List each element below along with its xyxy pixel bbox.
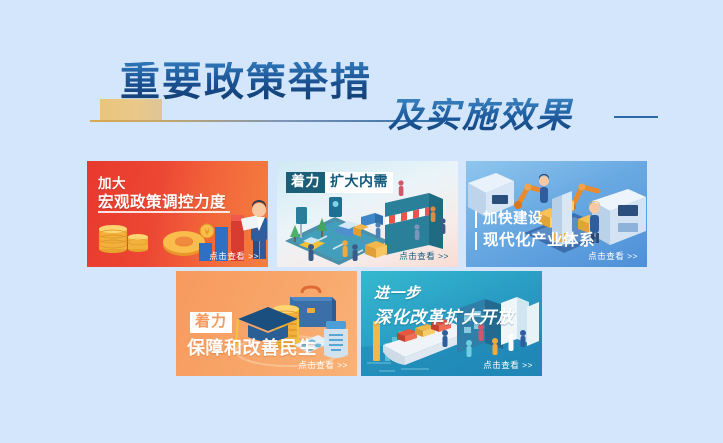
card1-line2: 宏观政策调控力度 xyxy=(98,190,226,212)
card2-line1: 着力 xyxy=(286,172,325,193)
card-deepen-reform[interactable]: 进一步 深化改革扩大开放 点击查看 >> xyxy=(361,271,542,376)
card5-cta-link[interactable]: 点击查看 >> xyxy=(483,359,533,371)
card-macro-policy[interactable]: ¥ 加大 宏观政策调控力度 点击查看 >> xyxy=(87,161,268,267)
card2-title-row: 着力 扩大内需 xyxy=(286,172,393,193)
card1-cta-link[interactable]: 点击查看 >> xyxy=(209,250,259,262)
page-header: 重要政策举措 及实施效果 xyxy=(0,0,723,155)
card2-cta-link[interactable]: 点击查看 >> xyxy=(399,250,449,262)
card3-line1: 加快建设 xyxy=(475,211,543,228)
card4-line2: 保障和改善民生 xyxy=(187,334,317,360)
card1-line1: 加大 xyxy=(98,172,126,192)
title-tail-rule xyxy=(614,116,658,118)
card-modern-industry[interactable]: 加快建设 现代化产业体系 点击查看 >> xyxy=(466,161,647,267)
page-title: 重要政策举措 xyxy=(120,62,372,102)
card3-cta-link[interactable]: 点击查看 >> xyxy=(588,250,638,262)
page-subtitle: 及实施效果 xyxy=(388,98,573,133)
card4-cta-link[interactable]: 点击查看 >> xyxy=(298,359,348,371)
card5-line2: 深化改革扩大开放 xyxy=(374,303,514,328)
card2-line2: 扩大内需 xyxy=(325,172,393,193)
card-peoples-livelihood[interactable]: 着力 保障和改善民生 点击查看 >> xyxy=(176,271,357,376)
card1-title-underline xyxy=(98,211,230,213)
svg-text:¥: ¥ xyxy=(204,228,209,237)
card-expand-demand[interactable]: 着力 扩大内需 点击查看 >> xyxy=(277,161,458,267)
card4-line1: 着力 xyxy=(190,312,232,333)
card3-line2: 现代化产业体系 xyxy=(475,232,595,250)
card5-line1: 进一步 xyxy=(374,282,421,303)
